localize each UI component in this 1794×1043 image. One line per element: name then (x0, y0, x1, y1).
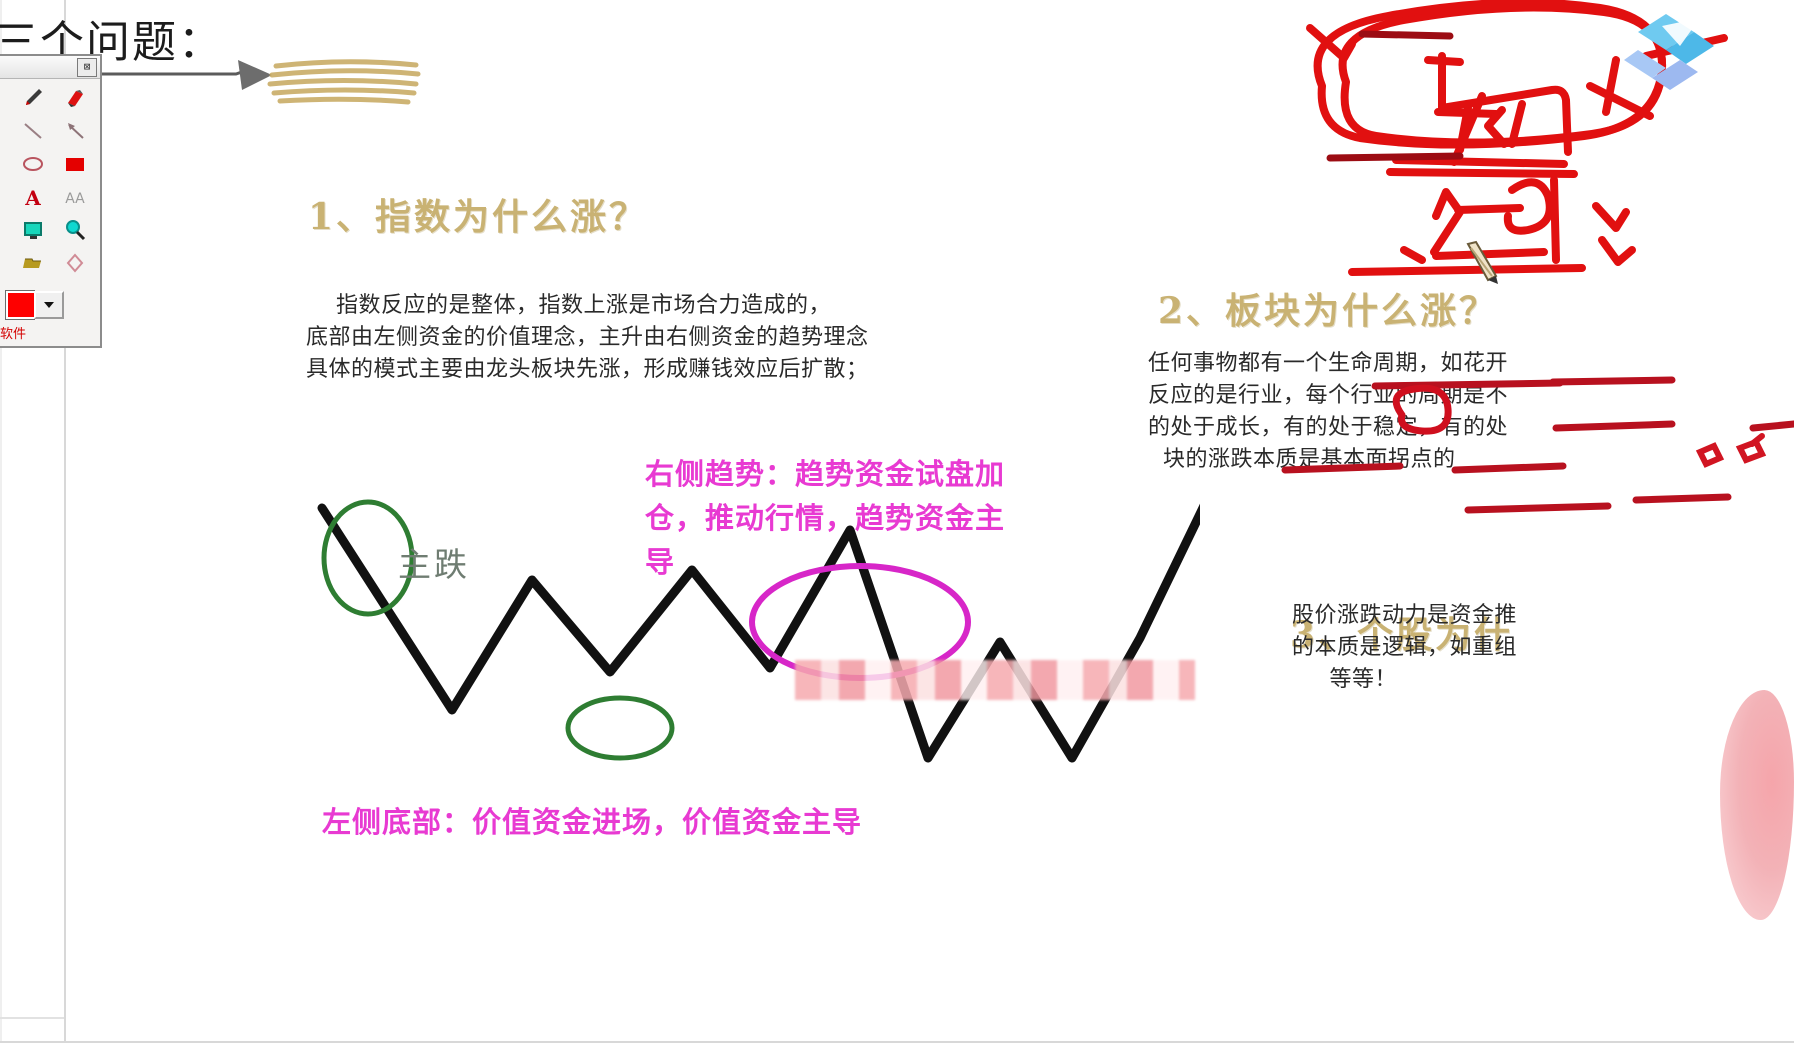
pencil-cursor-icon (1462, 240, 1502, 286)
redacted-watermark-bar (795, 660, 1195, 700)
pen-tool[interactable] (12, 82, 53, 114)
callout-leader (96, 56, 436, 116)
screen-tool[interactable] (12, 214, 53, 246)
arrow-tool[interactable] (55, 115, 96, 147)
open-file-tool[interactable] (12, 247, 53, 279)
eraser-tool[interactable] (55, 82, 96, 114)
blank-cell-e (0, 214, 11, 246)
toolbar-titlebar[interactable]: ⊠ (0, 56, 100, 79)
blank-cell-c (0, 148, 11, 180)
chevron-down-icon (44, 302, 54, 308)
annotation-right-trend: 右侧趋势：趋势资金试盘加 仓，推动行情，趋势资金主 导 (645, 452, 1085, 584)
filled-rect-tool[interactable] (55, 148, 96, 180)
svg-text:AA: AA (66, 191, 86, 207)
close-icon[interactable]: ⊠ (77, 58, 97, 77)
blank-cell-b (0, 115, 11, 147)
zoom-tool[interactable] (55, 214, 96, 246)
toolbar-brand-label: 红烛软件 (0, 323, 26, 342)
color-picker[interactable] (6, 291, 64, 319)
toolbar-tool-grid: A AA (0, 82, 96, 279)
diamond-tool[interactable] (55, 247, 96, 279)
chart-label-main-drop: 主跌 (398, 538, 470, 586)
current-color-swatch[interactable] (6, 291, 34, 319)
annotation-left-bottom: 左侧底部：价值资金进场，价值资金主导 (322, 800, 862, 844)
annotation-toolbar[interactable]: ⊠ A (0, 54, 102, 348)
toolbar-color-row (0, 292, 96, 318)
font-tool[interactable]: AA (55, 181, 96, 213)
blank-cell-d (0, 181, 11, 213)
blank-cell-f (0, 247, 11, 279)
blank-cell-a (0, 82, 11, 114)
color-dropdown[interactable] (34, 291, 64, 319)
decorative-pink-blob (1720, 690, 1794, 920)
paragraph-question-3: 股价涨跌动力是资金推 的本质是逻辑，如重组 等等！ (1292, 600, 1517, 696)
paragraph-question-2: 任何事物都有一个生命周期，如花开 反应的是行业，每个行业的周期是不 的处于成长，… (1148, 348, 1508, 476)
bottom-circle (568, 698, 672, 758)
paragraph-question-1: 指数反应的是整体，指数上涨是市场合力造成的， 底部由左侧资金的价值理念，主升由右… (306, 290, 869, 386)
text-tool[interactable]: A (12, 181, 53, 213)
slide-canvas: 三个问题： ⊠ (0, 0, 1794, 1043)
heading-question-1: 1、指数为什么涨？ (308, 188, 648, 240)
svg-text:A: A (24, 186, 41, 210)
page-border-bottom-inner (0, 1017, 64, 1019)
ellipse-tool[interactable] (12, 148, 53, 180)
line-tool[interactable] (12, 115, 53, 147)
dropbox-logo-icon (1618, 6, 1714, 102)
